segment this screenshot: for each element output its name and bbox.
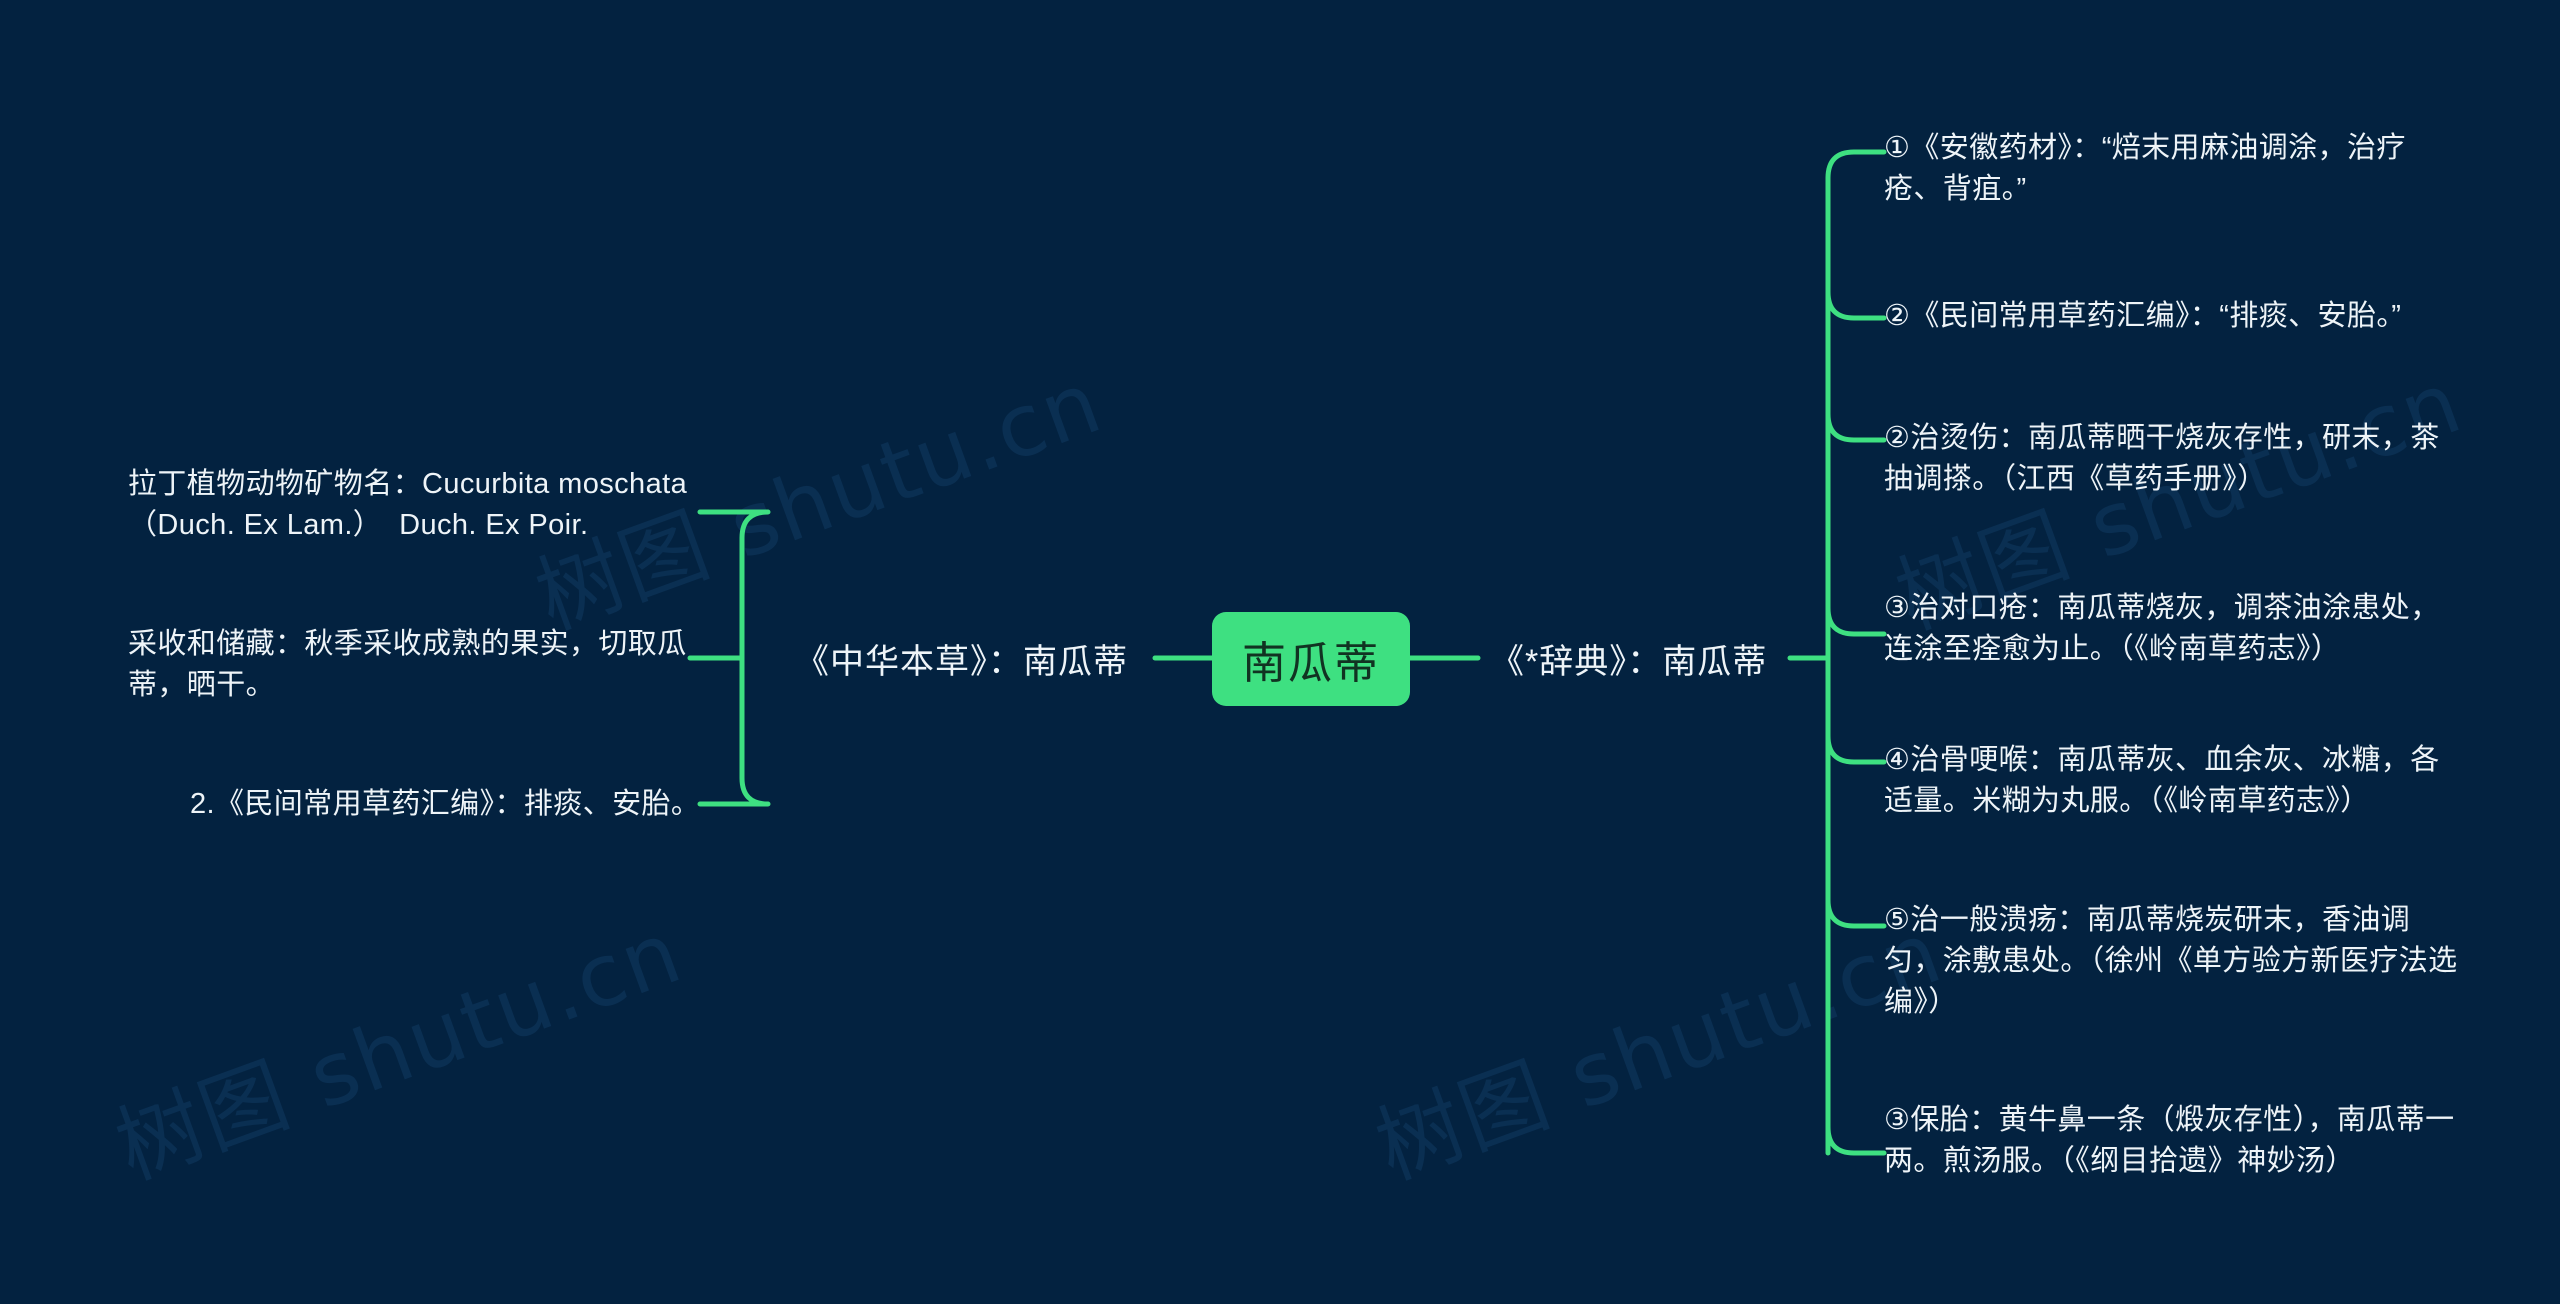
leaf-zhi-tangshang[interactable]: ②治烫伤：南瓜蒂晒干烧灰存性，研末，茶抽调搽。（江西《草药手册》） — [1884, 418, 2464, 500]
wire-right-stub-6 — [1828, 900, 1884, 926]
root-node[interactable]: 南瓜蒂 — [1212, 612, 1410, 706]
wire-right-stub-2 — [1828, 292, 1884, 318]
leaf-anhui-yaocai[interactable]: ①《安徽药材》：“焙末用麻油调涂，治疗疮、背疽。” — [1884, 128, 2464, 210]
leaf-zhi-duikouchuang[interactable]: ③治对口疮：南瓜蒂烧灰，调茶油涂患处，连涂至痊愈为止。（《岭南草药志》） — [1884, 588, 2464, 670]
leaf-minjian-caoyao-huibian[interactable]: ②《民间常用草药汇编》：“排痰、安胎。” — [1884, 296, 2464, 337]
watermark-text: 树图 shutu.cn — [96, 882, 696, 1202]
branch-title-cidian[interactable]: 《*辞典》：南瓜蒂 — [1490, 638, 1767, 686]
wire-right-stub-1 — [1828, 152, 1884, 204]
wire-right-stub-5 — [1828, 736, 1884, 762]
leaf-latin-name[interactable]: 拉丁植物动物矿物名：Cucurbita moschata（Duch. Ex La… — [128, 464, 728, 546]
watermark-text: 树图 shutu.cn — [1356, 882, 1956, 1202]
leaf-minjian-caoyao[interactable]: 2.《民间常用草药汇编》：排痰、安胎。 — [190, 784, 790, 825]
branch-title-zhonghua-bencao[interactable]: 《中华本草》：南瓜蒂 — [795, 638, 1128, 686]
wire-right-stub-7 — [1828, 1127, 1884, 1153]
leaf-zhi-kuiyang[interactable]: ⑤治一般溃疡：南瓜蒂烧炭研末，香油调匀，涂敷患处。（徐州《单方验方新医疗法选编》… — [1884, 900, 2464, 1024]
leaf-zhi-gugenghou[interactable]: ④治骨哽喉：南瓜蒂灰、血余灰、冰糖，各适量。米糊为丸服。（《岭南草药志》） — [1884, 740, 2464, 822]
wire-right-stub-3 — [1828, 414, 1884, 440]
leaf-harvest-storage[interactable]: 采收和储藏：秋季采收成熟的果实，切取瓜蒂，晒干。 — [128, 624, 728, 706]
wire-right-stub-4 — [1828, 608, 1884, 634]
leaf-baotai[interactable]: ③保胎：黄牛鼻一条（煅灰存性），南瓜蒂一两。煎汤服。（《纲目拾遗》神妙汤） — [1884, 1100, 2464, 1182]
mindmap-canvas: 树图 shutu.cn树图 shutu.cn树图 shutu.cn树图 shut… — [0, 0, 2560, 1304]
